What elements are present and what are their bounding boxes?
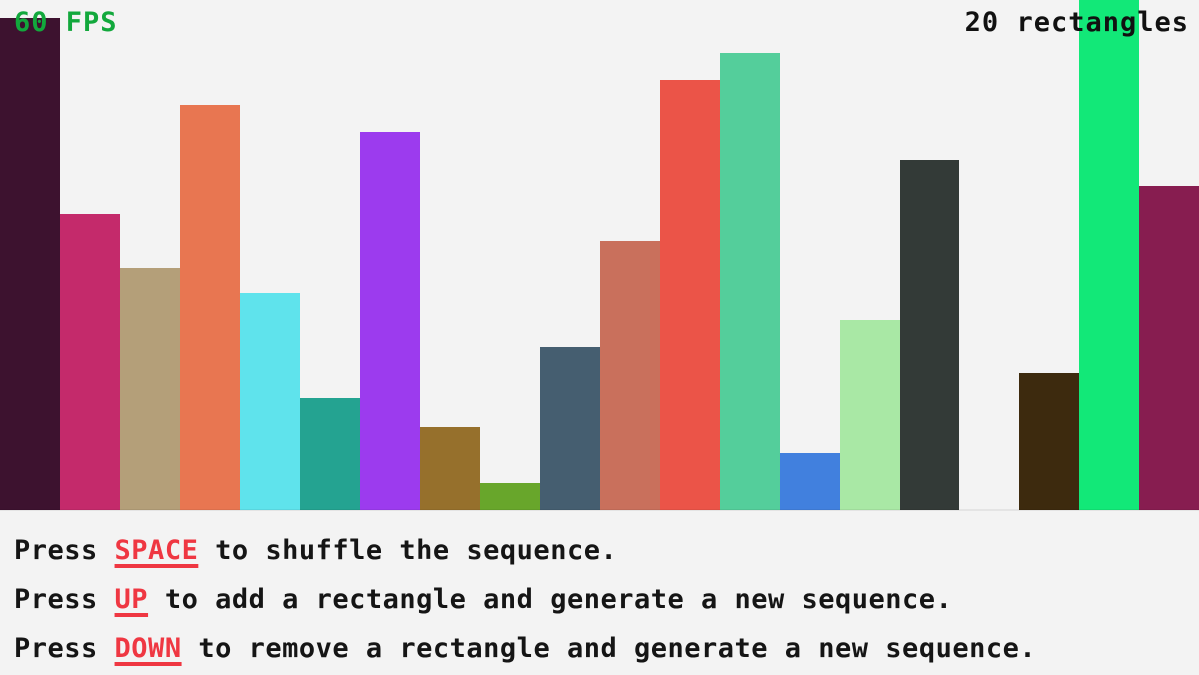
instruction-suffix: to remove a rectangle and generate a new…	[182, 633, 1037, 664]
instruction-prefix: Press	[14, 535, 115, 566]
app-root: 60 FPS 20 rectangles Press SPACE to shuf…	[0, 0, 1199, 675]
bar-rectangle	[840, 320, 900, 510]
bar-rectangle	[0, 18, 60, 510]
instruction-line-3: Press DOWN to remove a rectangle and gen…	[14, 624, 1199, 673]
bar-rectangle	[900, 160, 959, 510]
bar-rectangle	[180, 105, 240, 510]
instruction-suffix: to add a rectangle and generate a new se…	[148, 584, 952, 615]
rectangle-count-label: 20 rectangles	[965, 8, 1189, 38]
instruction-prefix: Press	[14, 633, 115, 664]
bar-rectangle	[480, 483, 540, 510]
instruction-suffix: to shuffle the sequence.	[198, 535, 617, 566]
chart-baseline	[0, 509, 1199, 511]
bar-rectangle	[1079, 0, 1139, 510]
keycap-down[interactable]: DOWN	[115, 633, 182, 664]
bar-rectangle	[1019, 373, 1079, 510]
fps-counter: 60 FPS	[14, 8, 118, 38]
keycap-space[interactable]: SPACE	[115, 535, 199, 566]
instructions-panel: Press SPACE to shuffle the sequence.Pres…	[0, 516, 1199, 673]
bar-rectangle	[300, 398, 360, 510]
bar-rectangle	[660, 80, 720, 510]
bar-rectangle	[420, 427, 480, 510]
instruction-line-2: Press UP to add a rectangle and generate…	[14, 575, 1199, 624]
bar-rectangle	[120, 268, 180, 510]
bar-rectangle	[540, 347, 600, 510]
bar-rectangle	[240, 293, 300, 510]
bar-rectangle	[720, 53, 780, 510]
instruction-line-1: Press SPACE to shuffle the sequence.	[14, 526, 1199, 575]
bar-rectangle	[360, 132, 420, 510]
bar-rectangle	[780, 453, 840, 510]
bar-rectangle	[600, 241, 660, 510]
bar-rectangle	[1139, 186, 1199, 510]
rectangle-chart-canvas[interactable]	[0, 0, 1199, 510]
keycap-up[interactable]: UP	[115, 584, 149, 615]
instruction-prefix: Press	[14, 584, 115, 615]
bar-rectangle	[60, 214, 120, 510]
